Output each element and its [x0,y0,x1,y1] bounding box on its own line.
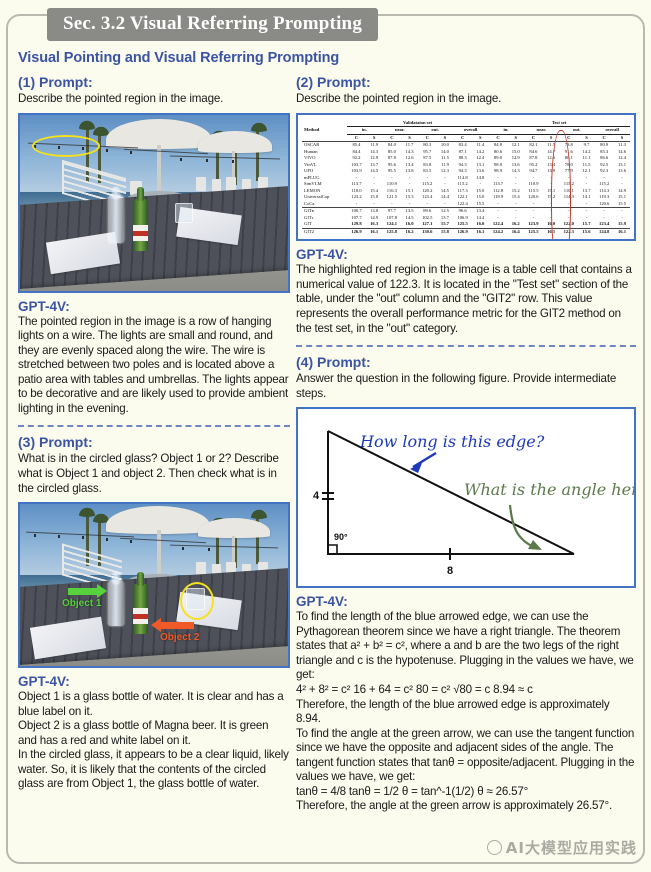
panel-4-answer-line-5: Therefore, the angle at the green arrow … [296,799,636,814]
table-cell: - [579,201,595,208]
left-column: (1) Prompt: Describe the pointed region … [18,74,290,792]
table-cell-method: GIT2 [302,228,347,235]
sub-test-overall: overall [594,127,630,135]
panel-3-gpt-label: GPT-4V: [18,674,290,689]
table-cell: 15.6 [579,228,595,235]
table-cell-method: GITʙ [302,208,347,215]
table-row: OSCAR85.411.984.011.780.310.083.411.484.… [302,142,630,149]
panel-3-prompt: What is in the circled glass? Object 1 o… [18,452,290,496]
metric-header-5-1: S [543,134,559,142]
panel-2: (2) Prompt: Describe the pointed region … [296,74,636,336]
blue-question-text: How long is this edge? [359,432,545,451]
table-cell: 16.0 [543,221,559,228]
table-group-header-row: Method Validataion set Test set [302,120,630,127]
metric-header-7-1: S [614,134,630,142]
metric-header-0-0: C [347,134,367,142]
geometry-figure[interactable]: 4 8 90° How long is this edge? What is t… [296,407,636,588]
table-cell: - [524,208,544,215]
watermark-logo-icon [487,840,502,855]
photo-canvas-2: Object 1 Object 2 [20,504,288,666]
table-cell: 80.3 [417,142,437,149]
sub-val-in: in. [347,127,382,135]
table-cell: - [437,201,453,208]
metric-header-6-0: C [559,134,579,142]
table-cell: - [366,201,382,208]
metric-header-2-1: S [437,134,453,142]
metric-header-2-0: C [417,134,437,142]
table-cell: 82.1 [524,142,544,149]
right-angle-marker [328,545,337,554]
panel-4-answer-line-1: 4² + 8² = c² 16 + 64 = c² 80 = c² √80 = … [296,683,636,698]
panel-4-answer-line-4: tanθ = 4/8 tanθ = 1/2 θ = tan^-1(1/2) θ … [296,785,636,800]
table-cell: 11.3 [614,142,630,149]
table-cell: 16.0 [402,221,418,228]
table-cell: 73.8 [559,142,579,149]
table-cell: 120.6 [594,201,614,208]
red-arrow-object2 [160,622,194,629]
metric-header-0-1: S [366,134,382,142]
results-table: Method Validataion set Test set in. near… [302,120,630,236]
table-cell: - [488,208,508,215]
section-tag: Sec. 3.2 Visual Referring Prompting [47,8,378,41]
metric-header-6-1: S [579,134,595,142]
table-cell: 16.2 [508,221,524,228]
table-cell: 13.4 [472,208,488,215]
table-cell: 16.1 [543,228,559,235]
table-cell: 16.1 [614,228,630,235]
table-cell: 125.5 [453,221,473,228]
panel-3-title: (3) Prompt: [18,434,290,450]
table-cell: - [347,201,367,208]
panel-1-title: (1) Prompt: [18,74,290,90]
panel-2-gpt-label: GPT-4V: [296,247,636,262]
paper-table-image[interactable]: Method Validataion set Test set in. near… [296,113,636,242]
metric-header-3-1: S [472,134,488,142]
panel-4-title: (4) Prompt: [296,354,636,370]
table-cell: 13.8 [366,208,382,215]
table-cell: 125.8 [382,228,402,235]
table-cell: - [543,208,559,215]
table-cell: 11.9 [366,142,382,149]
table-cell: - [508,208,524,215]
table-head: Method Validataion set Test set in. near… [302,120,630,142]
table-cell: 16.1 [472,228,488,235]
table-cell: 122.3 [559,228,579,235]
table-body: OSCAR85.411.984.011.780.310.083.411.484.… [302,142,630,236]
metric-header-3-0: C [453,134,473,142]
panel-1-gpt-label: GPT-4V: [18,299,290,314]
table-cell: 84.0 [382,142,402,149]
table-sub-header-row: in. near. out. overall in. near. out. ov… [302,127,630,135]
table-cell-method: CoCa [302,201,347,208]
metric-header-4-1: S [508,134,524,142]
metric-header-7-0: C [594,134,614,142]
table-cell: 122.4 [453,201,473,208]
table-cell: 89.6 [417,208,437,215]
table-cell: - [594,208,614,215]
table-cell: 15.5 [472,201,488,208]
table-cell: - [559,208,579,215]
table-cell: 15.7 [579,221,595,228]
group-validation: Validataion set [347,120,489,127]
panel-2-title: (2) Prompt: [296,74,636,90]
table-cell: 122.0 [559,221,579,228]
table-cell: 15.9 [614,221,630,228]
table-cell: 15.8 [437,228,453,235]
table-cell: 16.3 [366,221,382,228]
table-cell: 83.4 [453,142,473,149]
table-cell: 80.9 [594,142,614,149]
blue-arrow-shaft [413,453,436,467]
table-row: GIT129.816.3124.116.0127.115.7125.516.01… [302,221,630,228]
divider-right [296,345,636,347]
table-cell: - [579,208,595,215]
table-cell: - [402,201,418,208]
table-row: CoCa------122.415.5------120.615.5 [302,201,630,208]
table-cell: - [488,201,508,208]
slide-subtitle: Visual Pointing and Visual Referring Pro… [18,50,339,66]
panel-1-prompt: Describe the pointed region in the image… [18,92,290,107]
table-cell: 124.2 [488,228,508,235]
table-cell: 15.7 [437,221,453,228]
col-method: Method [302,120,347,142]
table-cell: 84.8 [488,142,508,149]
watermark-text: AI大模型应用实践 [506,839,637,857]
table-cell: 11.7 [402,142,418,149]
triangle-diagram: 4 8 90° How long is this edge? What is t… [298,409,634,581]
metric-header-5-0: C [524,134,544,142]
table-cell: 126.9 [347,228,367,235]
table-cell: 15.5 [614,201,630,208]
table-cell: 130.6 [417,228,437,235]
green-question-text: What is the angle here? [464,480,634,499]
table-cell: 123.9 [524,221,544,228]
metric-header-1-1: S [402,134,418,142]
panel-1: (1) Prompt: Describe the pointed region … [18,74,290,416]
table-cell: 12.1 [508,142,524,149]
table-cell: - [543,201,559,208]
sub-val-out: out. [417,127,452,135]
table-row: GIT2126.916.1125.816.2130.615.8126.916.1… [302,228,630,235]
table-cell: 123.4 [594,221,614,228]
table-cell: - [508,201,524,208]
yellow-highlight-ellipse [32,135,100,157]
right-column: (2) Prompt: Describe the pointed region … [296,74,636,814]
patio-photo-1[interactable] [18,113,290,293]
green-arrow-object1 [68,588,98,595]
metric-header-1-0: C [382,134,402,142]
metric-header-4-0: C [488,134,508,142]
table-cell: 122.4 [488,221,508,228]
table-cell: - [417,201,437,208]
table-cell: 96.6 [453,208,473,215]
watermark: AI大模型应用实践 [487,837,637,858]
table-cell: 126.9 [453,228,473,235]
table-cell: 10.0 [437,142,453,149]
sub-test-out: out. [559,127,594,135]
table-row: GITʙ100.713.897.713.589.612.596.613.4---… [302,208,630,215]
table-cell: - [559,201,579,208]
table-cell: 16.1 [366,228,382,235]
panel-4-answer-line-0: To find the length of the blue arrowed e… [296,610,636,683]
object-1-label: Object 1 [62,598,101,609]
table-cell: 129.8 [347,221,367,228]
panel-4-answer-line-2: Therefore, the length of the blue arrowe… [296,698,636,727]
panel-3-answer: Object 1 is a glass bottle of water. It … [18,690,290,792]
panel-4-prompt: Answer the question in the following fig… [296,372,636,401]
object-2-label: Object 2 [160,632,199,643]
panel-2-answer: The highlighted red region in the image … [296,263,636,336]
panel-3: (3) Prompt: What is in the circled glass… [18,434,290,792]
sub-val-near: near. [382,127,417,135]
table-cell: 127.1 [417,221,437,228]
group-test: Test set [488,120,630,127]
table-cell: 11.5 [543,142,559,149]
table-cell: 124.1 [382,221,402,228]
table-cell: 11.4 [472,142,488,149]
table-cell: 9.7 [579,142,595,149]
table-cell: 16.4 [508,228,524,235]
table-metric-header-row: CSCSCSCSCSCSCSCS [302,134,630,142]
table-cell: 16.0 [472,221,488,228]
patio-photo-2[interactable]: Object 1 Object 2 [18,502,290,668]
divider-left [18,425,290,427]
table-cell-method: GIT [302,221,347,228]
label-right-angle: 90° [334,532,348,542]
table-cell: 12.5 [437,208,453,215]
panel-2-prompt: Describe the pointed region in the image… [296,92,636,107]
panel-1-answer: The pointed region in the image is a row… [18,315,290,417]
sub-test-in: in. [488,127,523,135]
yellow-circle-glass [180,582,214,620]
slide-page: Sec. 3.2 Visual Referring Prompting Visu… [0,0,651,872]
table-cell: - [524,201,544,208]
table-cell: 13.5 [402,208,418,215]
table-cell: - [382,201,402,208]
sub-test-near: near. [524,127,559,135]
panel-4-answer: To find the length of the blue arrowed e… [296,610,636,814]
table-cell-method: OSCAR [302,142,347,149]
panel-4-answer-line-3: To find the angle at the green arrow, we… [296,727,636,785]
table-cell: 125.5 [524,228,544,235]
table-cell: 97.7 [382,208,402,215]
table-cell: 16.2 [402,228,418,235]
table-cell: 85.4 [347,142,367,149]
panel-4-gpt-label: GPT-4V: [296,594,636,609]
table-cell: - [614,208,630,215]
table-cell: 100.7 [347,208,367,215]
table-cell: 124.8 [594,228,614,235]
green-arrow-shaft [510,505,534,547]
label-side-8: 8 [447,565,453,577]
sub-val-overall: overall [453,127,488,135]
panel-4: (4) Prompt: Answer the question in the f… [296,354,636,814]
photo-canvas [20,115,288,291]
label-side-4: 4 [313,490,320,502]
